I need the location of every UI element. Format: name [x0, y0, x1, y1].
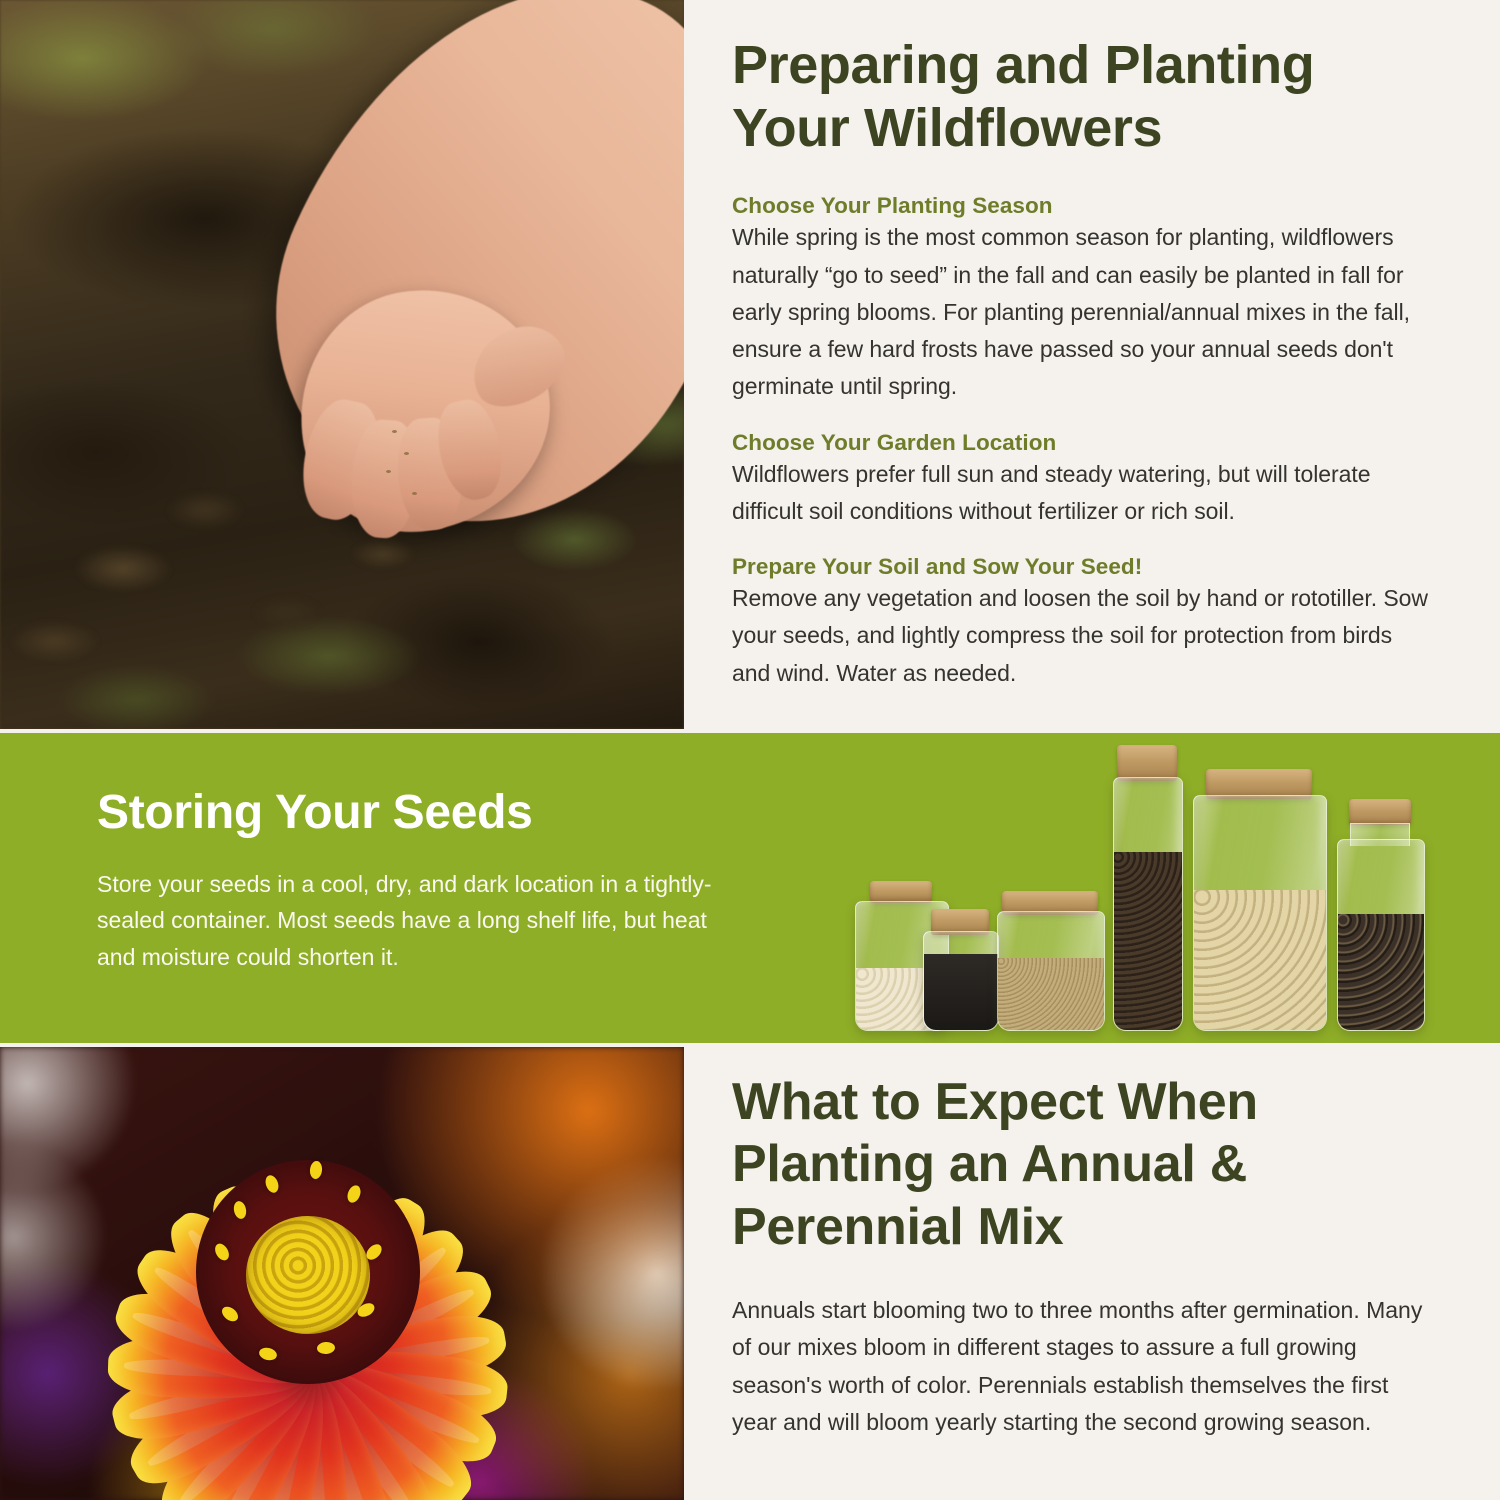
subheading-garden-location: Choose Your Garden Location: [732, 430, 1444, 456]
jar-contents: [998, 958, 1104, 1030]
storing-seeds-body: Store your seeds in a cool, dry, and dar…: [97, 866, 732, 975]
cork-lid: [870, 881, 932, 903]
jar-contents: [1114, 852, 1182, 1030]
falling-seed: [412, 492, 417, 495]
jar-contents: [1338, 914, 1424, 1030]
subheading-prepare-soil: Prepare Your Soil and Sow Your Seed!: [732, 554, 1444, 580]
jar-glass: [923, 931, 999, 1031]
jar-contents: [1194, 890, 1326, 1030]
subheading-planting-season: Choose Your Planting Season: [732, 193, 1444, 219]
page-title: Preparing and Planting Your Wildflowers: [732, 0, 1444, 159]
jar-glass: [1337, 839, 1425, 1031]
sandy-grain-jar: [997, 891, 1103, 1031]
falling-seed: [386, 470, 391, 473]
sunflower-seed-jar: [1337, 799, 1423, 1031]
jar-contents: [924, 954, 998, 1030]
cork-lid: [1117, 745, 1177, 781]
cork-lid: [1349, 799, 1411, 825]
blanket-flower-photo: [0, 1047, 684, 1500]
seed-jars-photo: [845, 733, 1445, 1043]
pumpkin-seed-jar: [1193, 769, 1325, 1031]
falling-seed: [392, 430, 397, 433]
hand-sowing-seeds-photo: [0, 0, 684, 729]
body-planting-season: While spring is the most common season f…: [732, 219, 1444, 405]
flower-petals: [48, 1057, 568, 1487]
tall-dark-seed-tube: [1113, 745, 1181, 1031]
what-to-expect-title: What to Expect When Planting an Annual &…: [732, 1043, 1444, 1258]
jar-glass: [997, 911, 1105, 1031]
what-to-expect-body: Annuals start blooming two to three mont…: [732, 1292, 1432, 1441]
infographic-page: Preparing and Planting Your Wildflowers …: [0, 0, 1500, 1500]
block-garden-location: Choose Your Garden Location Wildflowers …: [732, 430, 1444, 531]
bottom-text-column: What to Expect When Planting an Annual &…: [732, 1043, 1444, 1441]
flower-disc-center: [246, 1216, 370, 1334]
storing-seeds-title: Storing Your Seeds: [97, 785, 737, 840]
top-text-column: Preparing and Planting Your Wildflowers …: [732, 0, 1444, 733]
green-band-text: Storing Your Seeds Store your seeds in a…: [97, 785, 737, 975]
body-prepare-soil: Remove any vegetation and loosen the soi…: [732, 580, 1432, 692]
block-prepare-soil: Prepare Your Soil and Sow Your Seed! Rem…: [732, 554, 1444, 692]
falling-seed: [404, 452, 409, 455]
black-seed-jar: [923, 909, 997, 1031]
section-preparing-and-planting: Preparing and Planting Your Wildflowers …: [0, 0, 1500, 733]
jar-glass: [1193, 795, 1327, 1031]
section-what-to-expect: What to Expect When Planting an Annual &…: [0, 1043, 1500, 1500]
section-storing-your-seeds: Storing Your Seeds Store your seeds in a…: [0, 733, 1500, 1043]
block-planting-season: Choose Your Planting Season While spring…: [732, 193, 1444, 405]
body-garden-location: Wildflowers prefer full sun and steady w…: [732, 456, 1444, 531]
jar-glass: [1113, 777, 1183, 1031]
